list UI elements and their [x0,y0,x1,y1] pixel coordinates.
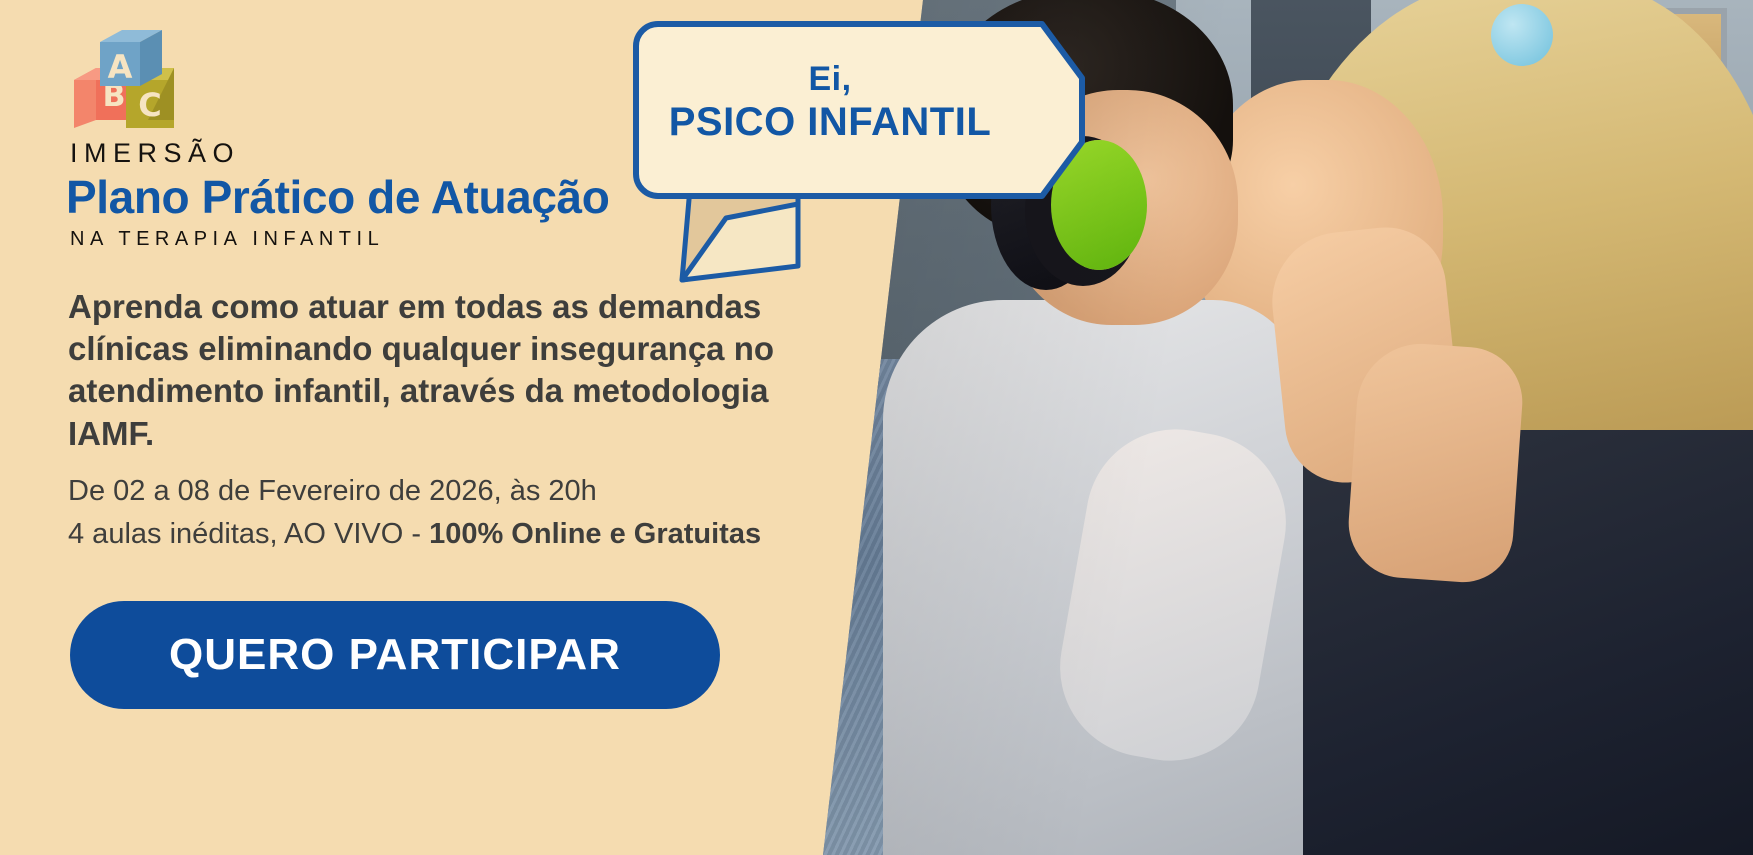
abc-blocks-logo: B C A [70,28,182,136]
speech-bubble: Ei, PSICO INFANTIL [630,18,1100,298]
headline-kicker: IMERSÃO [70,138,240,169]
event-format-prefix: 4 aulas inéditas, AO VIVO - [68,518,429,550]
quero-participar-button[interactable]: QUERO PARTICIPAR [70,601,720,709]
lede-paragraph: Aprenda como atuar em todas as demandas … [68,286,828,455]
event-details: De 02 a 08 de Fevereiro de 2026, às 20h … [68,470,898,556]
event-date-line: De 02 a 08 de Fevereiro de 2026, às 20h [68,470,898,513]
event-format-line: 4 aulas inéditas, AO VIVO - 100% Online … [68,513,898,556]
headline-subkicker: NA TERAPIA INFANTIL [70,228,384,251]
bubble-body [636,24,1082,196]
promo-banner: B C A IMERSÃO Plano [0,0,1753,855]
block-a-icon: A [100,30,162,86]
svg-text:A: A [108,48,133,86]
page-title: Plano Prático de Atuação [66,170,609,224]
event-format-highlight: 100% Online e Gratuitas [429,518,761,550]
svg-text:C: C [138,86,161,124]
cta-label: QUERO PARTICIPAR [169,630,621,680]
